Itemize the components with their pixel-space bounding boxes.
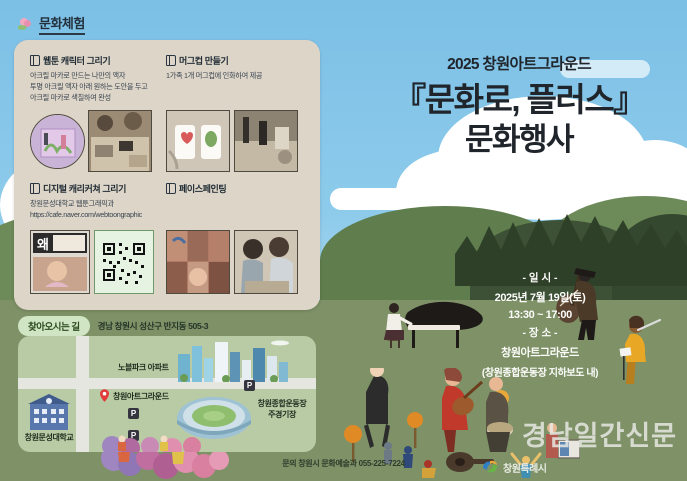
section-header: 문화체험 (18, 13, 85, 35)
program-card-3: 디지털 캐리커쳐 그리기 창원문성대학교 웹툰그래픽과 https://cafe… (30, 182, 142, 220)
time-value: 13:30 ~ 17:00 (415, 309, 665, 321)
photo-thumbnail (30, 114, 85, 169)
book-icon (30, 183, 40, 194)
program-desc-line: 투명 아크릴 액자 아래 원하는 도안을 두고 (30, 81, 148, 92)
program-title-row: 머그컵 만들기 (166, 54, 262, 67)
map-label-venue: 창원아트그라운드 (113, 391, 169, 402)
title-sub: 문화행사 (369, 121, 669, 158)
photo-thumbnail (88, 110, 152, 172)
city-skyline-illustration (176, 340, 294, 382)
place-value: 창원아트그라운드 (415, 344, 665, 360)
map-label-stadium-line1: 창원종합운동장 (258, 399, 307, 408)
program-desc-line: 1가족 1개 머그컵에 인화하여 제공 (166, 70, 262, 81)
photo-thumbnail: 왜 (30, 230, 90, 294)
section-title: 문화체험 (39, 13, 85, 35)
date-label: - 일 시 - (415, 270, 665, 285)
map-label-apartment: 노블파크 아파트 (118, 362, 169, 373)
program-desc-line: 창원문성대학교 웹툰그래픽과 (30, 198, 142, 209)
city-logo-label: 창원특례시 (503, 460, 547, 475)
program-title: 웹툰 캐릭터 그리기 (43, 54, 110, 67)
book-icon (30, 55, 40, 66)
parking-marker-icon: P (128, 408, 139, 419)
map-flowers-illustration (98, 434, 218, 452)
event-place-block: - 장 소 - 창원아트그라운드 (창원종합운동장 지하보도 내) (415, 325, 665, 379)
location-map[interactable]: 노블파크 아파트 창원아트그라운드 창원문성대학교 (18, 336, 316, 452)
program-desc-line: 아크릴 마카로 색칠하여 완성 (30, 92, 148, 103)
program-title-row: 페이스페인팅 (166, 182, 226, 195)
qr-code-image[interactable] (94, 230, 154, 294)
photo-thumbnail (166, 230, 230, 294)
map-label-stadium: 창원종합운동장 주경기장 (250, 398, 314, 420)
poster-canvas: 2025 창원아트그라운드 『문화로, 플러스』 문화행사 (0, 0, 687, 481)
place-detail: (창원종합운동장 지하보도 내) (415, 364, 665, 379)
program-desc-line: 아크릴 마카로 만드는 나만의 액자 (30, 70, 148, 81)
program-card-1: 웹툰 캐릭터 그리기 아크릴 마카로 만드는 나만의 액자 투명 아크릴 액자 … (30, 54, 148, 103)
poster-title-block: 2025 창원아트그라운드 『문화로, 플러스』 문화행사 (369, 52, 669, 158)
newspaper-watermark: 경남일간신문 (522, 414, 677, 453)
parking-marker-icon: P (244, 380, 255, 391)
program-title: 머그컵 만들기 (179, 54, 228, 67)
svg-text:왜: 왜 (37, 237, 49, 252)
directions-address: 경남 창원시 성산구 반지동 505-3 (98, 320, 209, 332)
directions-header: 찾아오시는 길 경남 창원시 성산구 반지동 505-3 (18, 316, 208, 336)
book-icon (166, 183, 176, 194)
place-label: - 장 소 - (415, 325, 665, 340)
program-card-2: 머그컵 만들기 1가족 1개 머그컵에 인화하여 제공 (166, 54, 262, 81)
flower-icon (18, 17, 33, 31)
title-main: 『문화로, 플러스』 (369, 79, 669, 121)
date-value: 2025년 7월 19일(토) (415, 289, 665, 305)
program-url[interactable]: https://cafe.naver.com/webtoongraphic (30, 209, 142, 220)
programs-panel: 웹툰 캐릭터 그리기 아크릴 마카로 만드는 나만의 액자 투명 아크릴 액자 … (14, 40, 320, 310)
map-road-vertical (76, 336, 89, 452)
program-card-4: 페이스페인팅 (166, 182, 226, 195)
program-title: 디지털 캐리커쳐 그리기 (43, 182, 126, 195)
photo-thumbnail (234, 230, 298, 294)
program-title: 페이스페인팅 (179, 182, 226, 195)
program-title-row: 웹툰 캐릭터 그리기 (30, 54, 148, 67)
title-year-line: 2025 창원아트그라운드 (369, 52, 669, 74)
photo-thumbnail (166, 110, 230, 172)
university-building-illustration (24, 394, 74, 430)
city-logo: 창원특례시 (481, 459, 547, 475)
program-title-row: 디지털 캐리커쳐 그리기 (30, 182, 142, 195)
map-pin-icon (100, 389, 109, 402)
photo-thumbnail (234, 110, 298, 172)
book-icon (166, 55, 176, 66)
contact-info: 문의 창원시 문화예술과 055-225-7224 (0, 458, 687, 469)
map-label-university: 창원문성대학교 (22, 432, 76, 443)
changwon-logo-icon (481, 459, 499, 475)
event-date-block: - 일 시 - 2025년 7월 19일(토) 13:30 ~ 17:00 (415, 270, 665, 321)
map-label-stadium-line2: 주경기장 (268, 410, 296, 419)
directions-badge: 찾아오시는 길 (18, 316, 90, 336)
